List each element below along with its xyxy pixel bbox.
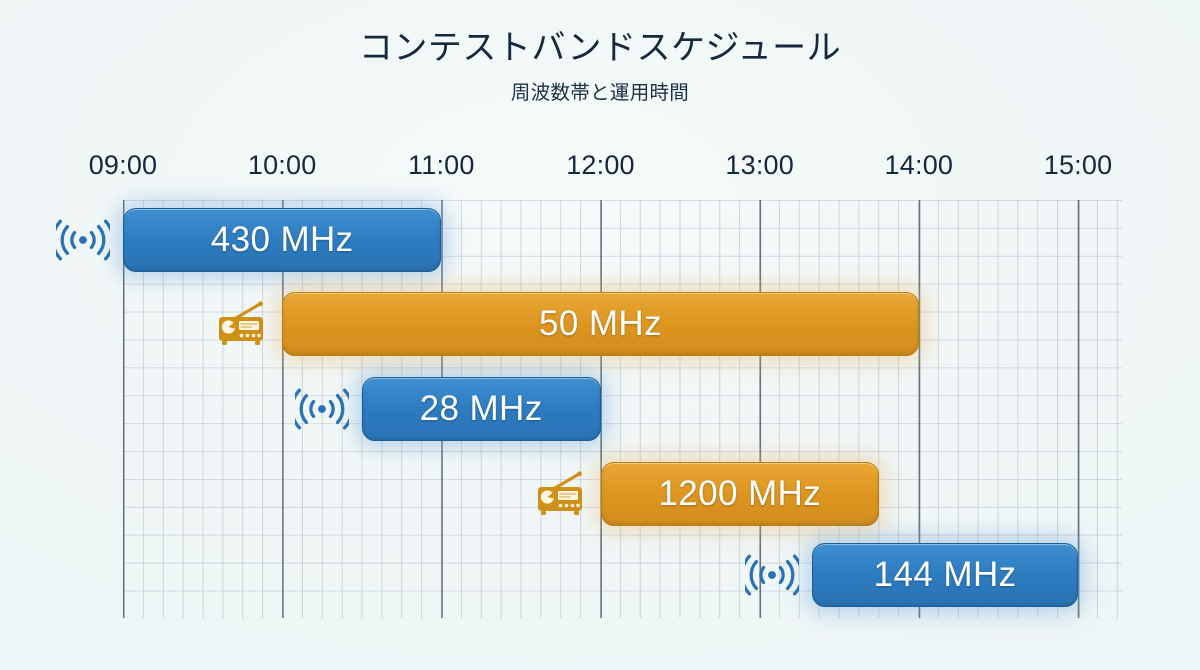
bar-label: 1200 MHz <box>658 474 821 514</box>
bar-row: 50 MHz <box>123 292 1122 356</box>
page-subtitle: 周波数帯と運用時間 <box>0 67 1200 105</box>
axis-tick-label: 14:00 <box>885 150 954 181</box>
schedule-bar[interactable]: 144 MHz <box>812 543 1078 607</box>
bar-label: 430 MHz <box>211 220 354 260</box>
schedule-bar[interactable]: 1200 MHz <box>601 462 880 526</box>
bar-row: 1200 MHz <box>123 462 1122 526</box>
antenna-signal-icon <box>55 214 111 266</box>
bar-row: 28 MHz <box>123 377 1122 441</box>
axis-tick-label: 10:00 <box>248 150 317 181</box>
schedule-bar[interactable]: 28 MHz <box>362 377 601 441</box>
axis-tick-label: 12:00 <box>566 150 635 181</box>
antenna-signal-icon <box>294 383 350 435</box>
plot-area: 430 MHz50 MHz28 MHz1200 MHz144 MHz <box>123 200 1122 618</box>
radio-receiver-icon <box>214 298 270 350</box>
schedule-bar[interactable]: 430 MHz <box>123 208 441 272</box>
gantt-chart: コンテストバンドスケジュール 周波数帯と運用時間 09:0010:0011:00… <box>0 0 1200 670</box>
bar-label: 50 MHz <box>539 304 662 344</box>
axis-tick-label: 11:00 <box>408 150 475 181</box>
radio-receiver-icon <box>533 468 589 520</box>
axis-tick-label: 15:00 <box>1044 150 1113 181</box>
schedule-bar[interactable]: 50 MHz <box>282 292 919 356</box>
bar-label: 28 MHz <box>420 389 543 429</box>
bar-row: 144 MHz <box>123 543 1122 607</box>
axis-tick-label: 13:00 <box>725 150 794 181</box>
bar-row: 430 MHz <box>123 208 1122 272</box>
page-title: コンテストバンドスケジュール <box>0 0 1200 67</box>
bar-label: 144 MHz <box>874 555 1017 595</box>
time-axis: 09:0010:0011:0012:0013:0014:0015:00 <box>0 150 1200 194</box>
antenna-signal-icon <box>744 549 800 601</box>
axis-tick-label: 09:00 <box>89 150 158 181</box>
chart-header: コンテストバンドスケジュール 周波数帯と運用時間 <box>0 0 1200 105</box>
